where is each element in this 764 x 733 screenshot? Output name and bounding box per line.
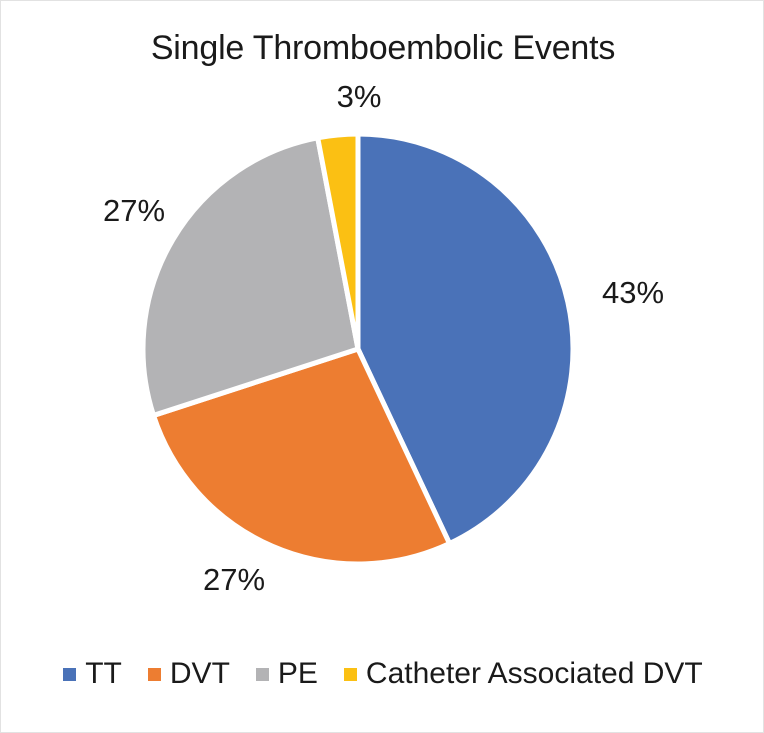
- legend-label-dvt: DVT: [170, 659, 230, 689]
- slice-value-label-tt: 43%: [593, 275, 673, 311]
- pie-slice-group: [143, 134, 573, 564]
- slice-value-label-pe: 27%: [89, 193, 179, 229]
- legend-item-catheter-associated-dvt[interactable]: Catheter Associated DVT: [344, 659, 703, 689]
- chart-legend: TT DVT PE Catheter Associated DVT: [1, 654, 764, 694]
- slice-value-label-dvt: 27%: [189, 562, 279, 598]
- legend-label-pe: PE: [278, 659, 318, 689]
- legend-item-dvt[interactable]: DVT: [148, 659, 230, 689]
- legend-swatch-icon-tt: [63, 668, 76, 681]
- legend-label-tt: TT: [85, 659, 122, 689]
- legend-item-pe[interactable]: PE: [256, 659, 318, 689]
- legend-swatch-icon-pe: [256, 668, 269, 681]
- pie-chart-figure: Single Thromboembolic Events 43% 27% 27%…: [0, 0, 764, 733]
- legend-item-tt[interactable]: TT: [63, 659, 122, 689]
- legend-label-catheter-associated-dvt: Catheter Associated DVT: [366, 659, 703, 689]
- legend-swatch-icon-dvt: [148, 668, 161, 681]
- legend-swatch-icon-catheter-associated-dvt: [344, 668, 357, 681]
- slice-value-label-catheter-associated-dvt: 3%: [319, 79, 399, 115]
